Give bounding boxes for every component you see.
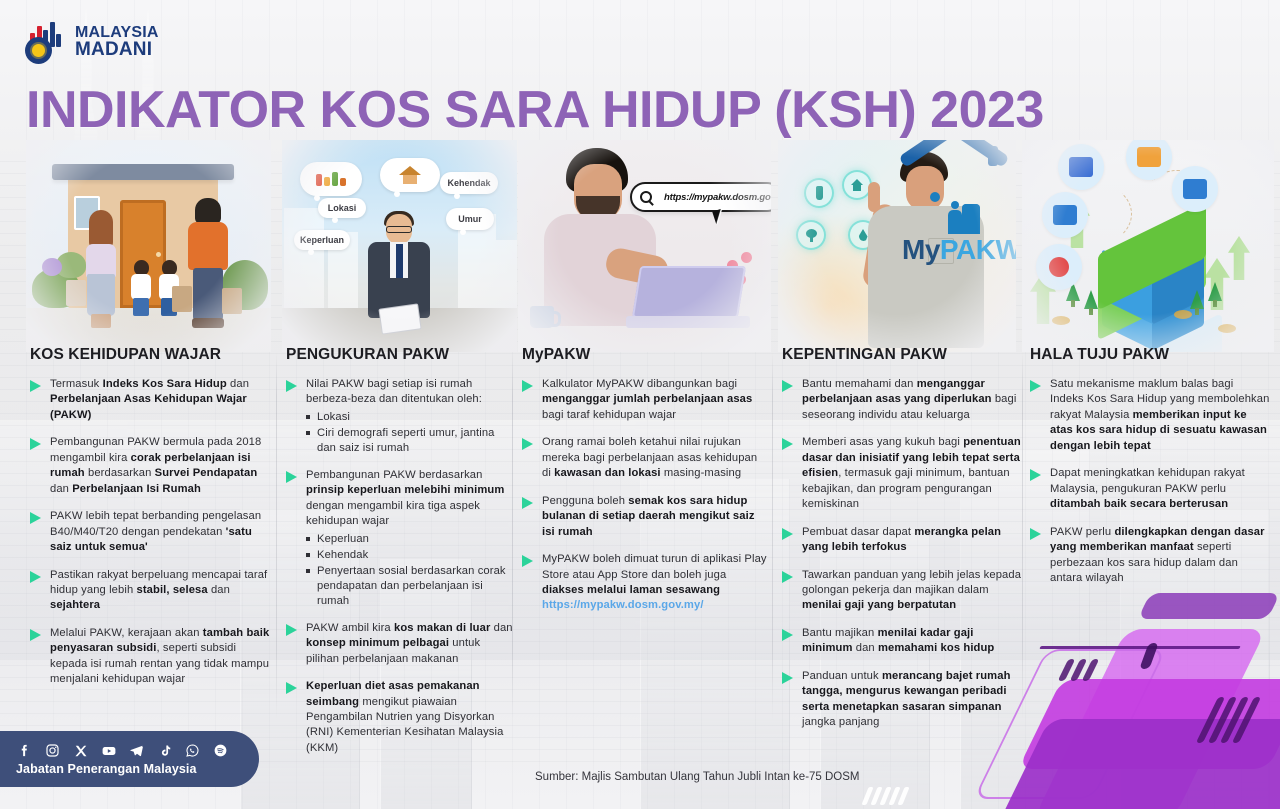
- bullet-text: Nilai PAKW bagi setiap isi rumah berbeza…: [306, 378, 482, 405]
- bullet-item: MyPAKW boleh dimuat turun di aplikasi Pl…: [522, 552, 769, 614]
- bullet-text: Kalkulator MyPAKW dibangunkan bagi menga…: [542, 378, 752, 421]
- bullet-item: Dapat meningkatkan kehidupan rakyat Mala…: [1030, 466, 1270, 512]
- bullet-item: Pengguna boleh semak kos sara hidup bula…: [522, 494, 769, 540]
- man-pointing-illustration: MyPAKW: [778, 140, 1016, 352]
- youtube-icon[interactable]: [100, 742, 117, 759]
- man-using-laptop-illustration: https://mypakw.dosm.gov.my/: [518, 140, 771, 352]
- bullet-text: Bantu memahami dan menganggar perbelanja…: [802, 378, 1016, 421]
- infographic-poster: MALAYSIA MADANI INDIKATOR KOS SARA HIDUP…: [0, 0, 1280, 809]
- column-heading: HALA TUJU PAKW: [1030, 346, 1270, 364]
- source-note: Sumber: Majlis Sambutan Ulang Tahun Jubl…: [535, 771, 860, 783]
- column-heading: KEPENTINGAN PAKW: [782, 346, 1022, 364]
- bullet-item: Orang ramai boleh ketahui nilai rujukan …: [522, 435, 769, 481]
- bullet-item: Nilai PAKW bagi setiap isi rumah berbeza…: [286, 377, 516, 456]
- bullet-text: Dapat meningkatkan kehidupan rakyat Mala…: [1050, 467, 1245, 510]
- bullet-list: Nilai PAKW bagi setiap isi rumah berbeza…: [286, 377, 516, 756]
- column-kepentingan-pakw: KEPENTINGAN PAKW Bantu memahami dan meng…: [782, 346, 1022, 743]
- sub-bullet-item: Keperluan: [306, 532, 516, 547]
- bullet-text: Pembangunan PAKW bermula pada 2018 menga…: [50, 436, 261, 494]
- column-pengukuran-pakw: PENGUKURAN PAKW Nilai PAKW bagi setiap i…: [286, 346, 516, 768]
- bullet-item: PAKW lebih tepat berbanding pengelasan B…: [30, 509, 270, 555]
- spotify-icon[interactable]: [212, 742, 229, 759]
- instagram-icon[interactable]: [44, 742, 61, 759]
- telegram-icon[interactable]: [128, 742, 145, 759]
- bullet-text: Tawarkan panduan yang lebih jelas kepada…: [802, 569, 1021, 612]
- bullet-item: PAKW perlu dilengkapkan dengan dasar yan…: [1030, 525, 1270, 587]
- sub-bullet-list: LokasiCiri demografi seperti umur, janti…: [306, 410, 516, 456]
- column-heading: MyPAKW: [522, 346, 769, 364]
- sub-bullet-item: Penyertaan sosial berdasarkan corak pend…: [306, 564, 516, 609]
- bullet-list: Satu mekanisme maklum balas bagi Indeks …: [1030, 377, 1270, 586]
- malaysia-madani-logo-icon: [24, 20, 66, 64]
- page-title: INDIKATOR KOS SARA HIDUP (KSH) 2023: [26, 80, 1044, 140]
- bullet-item: Pastikan rakyat berpeluang mencapai tara…: [30, 568, 270, 614]
- decorative-white-stripes: [865, 775, 995, 805]
- column-kos-kehidupan-wajar: KOS KEHIDUPAN WAJAR Termasuk Indeks Kos …: [30, 346, 270, 700]
- bullet-list: Termasuk Indeks Kos Sara Hidup dan Perbe…: [30, 377, 270, 688]
- analyst-with-thought-bubbles-illustration: Lokasi Keperluan Kehendak Umur: [282, 140, 517, 352]
- bullet-list: Kalkulator MyPAKW dibangunkan bagi menga…: [522, 377, 769, 614]
- malaysia-madani-logo: MALAYSIA MADANI: [24, 20, 159, 64]
- bullet-list: Bantu memahami dan menganggar perbelanja…: [782, 377, 1022, 731]
- bullet-text: Satu mekanisme maklum balas bagi Indeks …: [1050, 378, 1269, 452]
- sub-bullet-list: KeperluanKehendakPenyertaan sosial berda…: [306, 532, 516, 609]
- column-heading: KOS KEHIDUPAN WAJAR: [30, 346, 270, 364]
- bullet-item: Bantu memahami dan menganggar perbelanja…: [782, 377, 1022, 423]
- bullet-item: PAKW ambil kira kos makan di luar dan ko…: [286, 621, 516, 667]
- bullet-text: Pengguna boleh semak kos sara hidup bula…: [542, 495, 755, 538]
- column-hala-tuju-pakw: HALA TUJU PAKW Satu mekanisme maklum bal…: [1030, 346, 1270, 598]
- bullet-text: MyPAKW boleh dimuat turun di aplikasi Pl…: [542, 553, 767, 611]
- bullet-text: Pembangunan PAKW berdasarkan prinsip kep…: [306, 469, 504, 527]
- bullet-item: Pembangunan PAKW berdasarkan prinsip kep…: [286, 468, 516, 609]
- isometric-data-infrastructure-illustration: [1022, 140, 1274, 352]
- bullet-item: Melalui PAKW, kerajaan akan tambah baik …: [30, 626, 270, 688]
- x-twitter-icon[interactable]: [72, 742, 89, 759]
- bullet-item: Satu mekanisme maklum balas bagi Indeks …: [1030, 377, 1270, 454]
- bullet-text: Bantu majikan menilai kadar gaji minimum…: [802, 627, 994, 654]
- bullet-text: Pastikan rakyat berpeluang mencapai tara…: [50, 569, 267, 612]
- footer-social-bar: Jabatan Penerangan Malaysia: [0, 731, 259, 787]
- bullet-item: Pembangunan PAKW bermula pada 2018 menga…: [30, 435, 270, 497]
- family-walking-home-illustration: [26, 140, 271, 352]
- bullet-text: Panduan untuk merancang bajet rumah tang…: [802, 670, 1011, 728]
- bullet-text: PAKW ambil kira kos makan di luar dan ko…: [306, 622, 513, 665]
- tiktok-icon[interactable]: [156, 742, 173, 759]
- logo-line-2: MADANI: [75, 41, 159, 59]
- bullet-text: Termasuk Indeks Kos Sara Hidup dan Perbe…: [50, 378, 249, 421]
- illustration-band: Lokasi Keperluan Kehendak Umur https://m…: [0, 140, 1280, 355]
- bullet-text: Keperluan diet asas pemakanan seimbang m…: [306, 680, 503, 754]
- agency-name: Jabatan Penerangan Malaysia: [16, 762, 229, 776]
- bullet-item: Tawarkan panduan yang lebih jelas kepada…: [782, 568, 1022, 614]
- bullet-item: Keperluan diet asas pemakanan seimbang m…: [286, 679, 516, 756]
- sub-bullet-item: Kehendak: [306, 548, 516, 563]
- bullet-text: PAKW lebih tepat berbanding pengelasan B…: [50, 510, 261, 553]
- bullet-text: Memberi asas yang kukuh bagi penentuan d…: [802, 436, 1021, 510]
- column-mypakw: MyPAKW Kalkulator MyPAKW dibangunkan bag…: [522, 346, 769, 626]
- bullet-text: Orang ramai boleh ketahui nilai rujukan …: [542, 436, 757, 479]
- bullet-item: Kalkulator MyPAKW dibangunkan bagi menga…: [522, 377, 769, 423]
- bullet-item: Bantu majikan menilai kadar gaji minimum…: [782, 626, 1022, 657]
- content-columns: KOS KEHIDUPAN WAJAR Termasuk Indeks Kos …: [0, 346, 1280, 746]
- whatsapp-icon[interactable]: [184, 742, 201, 759]
- bullet-text: PAKW perlu dilengkapkan dengan dasar yan…: [1050, 526, 1265, 584]
- bullet-item: Pembuat dasar dapat merangka pelan yang …: [782, 525, 1022, 556]
- column-heading: PENGUKURAN PAKW: [286, 346, 516, 364]
- bullet-text: Melalui PAKW, kerajaan akan tambah baik …: [50, 627, 269, 685]
- bullet-item: Memberi asas yang kukuh bagi penentuan d…: [782, 435, 1022, 512]
- social-icon-row: [16, 742, 229, 759]
- facebook-icon[interactable]: [16, 742, 33, 759]
- bullet-item: Termasuk Indeks Kos Sara Hidup dan Perbe…: [30, 377, 270, 423]
- bullet-item: Panduan untuk merancang bajet rumah tang…: [782, 669, 1022, 731]
- sub-bullet-item: Lokasi: [306, 410, 516, 425]
- bullet-text: Pembuat dasar dapat merangka pelan yang …: [802, 526, 1001, 553]
- sub-bullet-item: Ciri demografi seperti umur, jantina dan…: [306, 426, 516, 456]
